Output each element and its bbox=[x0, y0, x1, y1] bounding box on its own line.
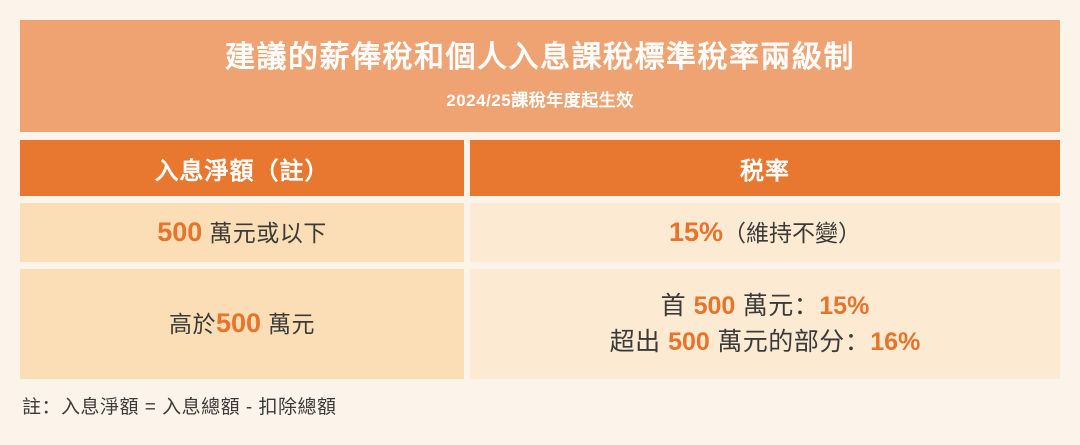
row-2-income-suffix: 萬元 bbox=[261, 311, 315, 337]
column-header-rate-label: 税率 bbox=[740, 151, 790, 186]
row-1-rate-note: （維持不變） bbox=[723, 220, 861, 246]
row-2-income-prefix: 高於 bbox=[169, 311, 216, 337]
row-2-rate-line-2-value: 16% bbox=[870, 328, 920, 356]
row-1-rate-cell: 15%（維持不變） bbox=[470, 203, 1060, 262]
page-title: 建議的薪俸稅和個人入息課稅標準稅率兩級制 bbox=[225, 41, 855, 76]
row-2-rate-line-2: 超出 500 萬元的部分：16% bbox=[610, 324, 921, 360]
row-2-rate-line-1-value: 15% bbox=[819, 292, 869, 320]
row-2-income-text: 高於500 萬元 bbox=[169, 304, 315, 343]
tax-rate-table: 入息淨額（註） 税率 500 萬元或以下 15%（維持不變） 高於500 萬元 … bbox=[20, 140, 1060, 379]
row-1-income-suffix: 萬元或以下 bbox=[202, 220, 326, 246]
row-1-income-text: 500 萬元或以下 bbox=[157, 213, 326, 252]
row-1-income-cell: 500 萬元或以下 bbox=[20, 203, 464, 262]
footnote: 註：入息淨額 = 入息總額 - 扣除總額 bbox=[22, 392, 337, 419]
row-2-rate-cell: 首 500 萬元：15% 超出 500 萬元的部分：16% bbox=[470, 269, 1060, 379]
page-subtitle: 2024/25課稅年度起生效 bbox=[446, 86, 633, 111]
title-band: 建議的薪俸稅和個人入息課稅標準稅率兩級制 2024/25課稅年度起生效 bbox=[20, 20, 1060, 132]
table-row: 500 萬元或以下 15%（維持不變） bbox=[20, 203, 1060, 262]
row-2-rate-line-2-middle: 萬元的部分： bbox=[710, 328, 870, 356]
row-2-income-cell: 高於500 萬元 bbox=[20, 269, 464, 379]
table-header-row: 入息淨額（註） 税率 bbox=[20, 140, 1060, 196]
tax-rate-infographic: 建議的薪俸稅和個人入息課稅標準稅率兩級制 2024/25課稅年度起生效 入息淨額… bbox=[0, 0, 1080, 445]
row-1-rate-text: 15%（維持不變） bbox=[669, 213, 861, 252]
row-2-rate-line-1-prefix: 首 bbox=[661, 292, 694, 320]
row-2-rate-line-2-prefix: 超出 bbox=[610, 328, 668, 356]
column-header-income-label: 入息淨額（註） bbox=[155, 151, 330, 186]
row-2-rate-line-1: 首 500 萬元：15% bbox=[661, 288, 870, 324]
column-header-rate: 税率 bbox=[470, 140, 1060, 196]
row-1-rate-value: 15% bbox=[669, 217, 723, 247]
row-1-income-amount: 500 bbox=[157, 217, 202, 247]
column-header-income: 入息淨額（註） bbox=[20, 140, 464, 196]
table-row: 高於500 萬元 首 500 萬元：15% 超出 500 萬元的部分：16% bbox=[20, 269, 1060, 379]
row-2-rate-line-1-middle: 萬元： bbox=[735, 292, 819, 320]
row-2-rate-line-1-amount: 500 bbox=[694, 292, 736, 320]
row-2-rate-line-2-amount: 500 bbox=[668, 328, 710, 356]
row-2-income-amount: 500 bbox=[216, 308, 261, 338]
